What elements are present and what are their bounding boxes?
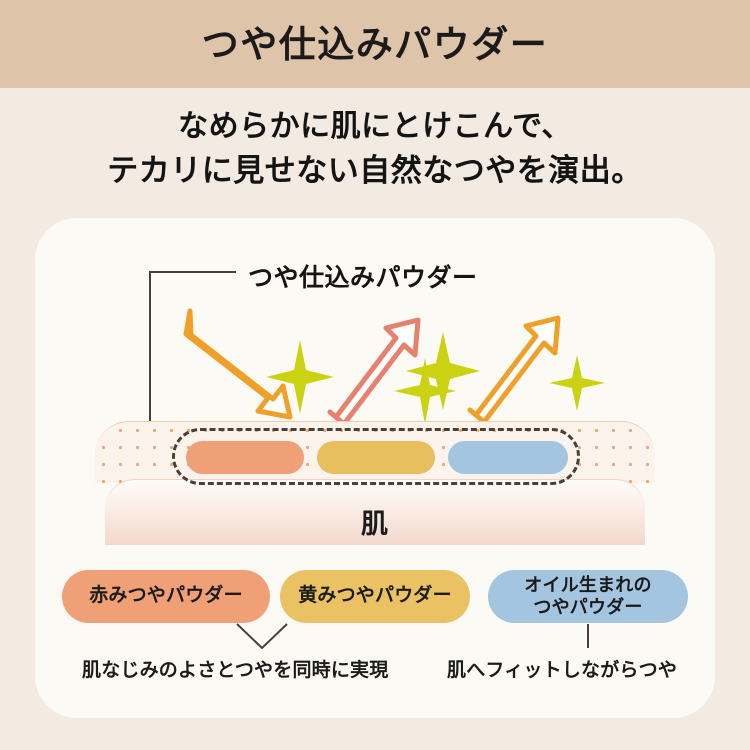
caption-right: 肌へフィットしながらつや xyxy=(447,655,677,682)
legend-item-red: 赤みつやパウダー xyxy=(62,570,270,623)
legend-item-yellow: 黄みつやパウダー xyxy=(280,570,470,623)
subtitle: なめらかに肌にとけこんで、 テカリに見せない自然なつやを演出。 xyxy=(0,105,750,193)
skin-layer: 肌 xyxy=(105,479,645,545)
page-title: つや仕込みパウダー xyxy=(202,26,549,63)
legend: 赤みつやパウダー 黄みつやパウダー オイル生まれの つやパウダー xyxy=(0,570,750,628)
powder-bar-row xyxy=(186,441,568,474)
powder-bar-blue xyxy=(448,441,568,474)
subtitle-line-1: なめらかに肌にとけこんで、 xyxy=(0,105,750,149)
caption-left: 肌なじみのよさとつやを同時に実現 xyxy=(82,655,388,682)
legend-item-blue-label-line-2: つやパウダー xyxy=(533,597,642,617)
legend-item-blue-label-line-1: オイル生まれの xyxy=(524,575,651,595)
legend-item-blue: オイル生まれの つやパウダー xyxy=(488,570,688,623)
subtitle-line-2: テカリに見せない自然なつやを演出。 xyxy=(0,149,750,194)
callout-label: つや仕込みパウダー xyxy=(248,258,478,294)
powder-bar-red xyxy=(186,441,304,474)
header-band: つや仕込みパウダー xyxy=(0,0,750,88)
powder-bar-yellow xyxy=(317,441,435,474)
legend-item-red-label: 赤みつやパウダー xyxy=(89,585,243,607)
legend-item-yellow-label: 黄みつやパウダー xyxy=(298,585,452,607)
skin-label: 肌 xyxy=(105,502,645,541)
